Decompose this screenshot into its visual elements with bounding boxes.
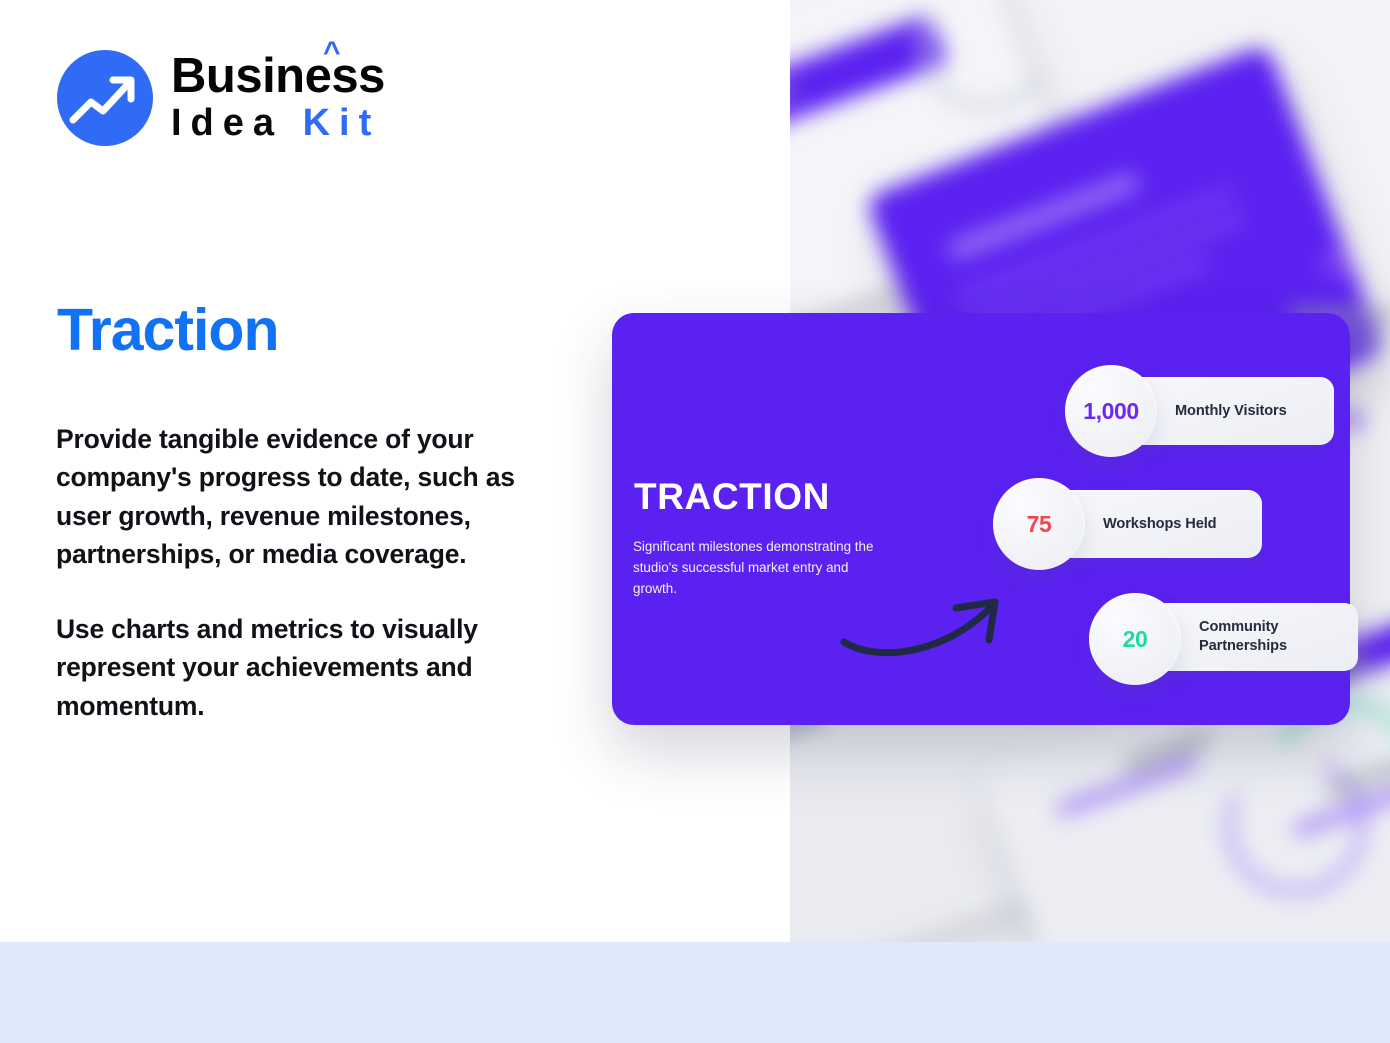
metric-row[interactable]: Monthly Visitors 1,000 — [1065, 365, 1157, 457]
metric-value-circle: 1,000 — [1065, 365, 1157, 457]
circumflex-accent-icon: ^ — [323, 38, 340, 68]
metric-row[interactable]: Workshops Held 75 — [993, 478, 1085, 570]
metrics-list: Monthly Visitors 1,000 Workshops Held 75… — [612, 313, 1350, 725]
page-title: Traction — [57, 298, 279, 363]
brand-name-top: Business ^ — [171, 52, 385, 102]
metric-row[interactable]: Community Partnerships 20 — [1089, 593, 1181, 685]
brand-name-top-text: Business — [171, 49, 385, 103]
metric-value-circle: 20 — [1089, 593, 1181, 685]
body-paragraph-2: Use charts and metrics to visually repre… — [56, 610, 566, 725]
slide-preview-page: Business ^ Idea Kit Traction Provide tan… — [0, 0, 1390, 1043]
body-copy: Provide tangible evidence of your compan… — [56, 420, 566, 725]
growth-chart-arrow-icon — [57, 50, 153, 146]
metric-value-circle: 75 — [993, 478, 1085, 570]
brand-name-kit: Kit — [303, 102, 381, 144]
bg-dot — [1320, 250, 1348, 278]
curved-arrow-up-right-icon — [840, 592, 1012, 658]
body-paragraph-1: Provide tangible evidence of your compan… — [56, 420, 566, 574]
brand-name-bottom: Idea Kit — [171, 104, 385, 144]
brand-name-idea: Idea — [171, 102, 283, 144]
bottom-bar — [0, 942, 1390, 1043]
brand-logo: Business ^ Idea Kit — [57, 50, 385, 146]
